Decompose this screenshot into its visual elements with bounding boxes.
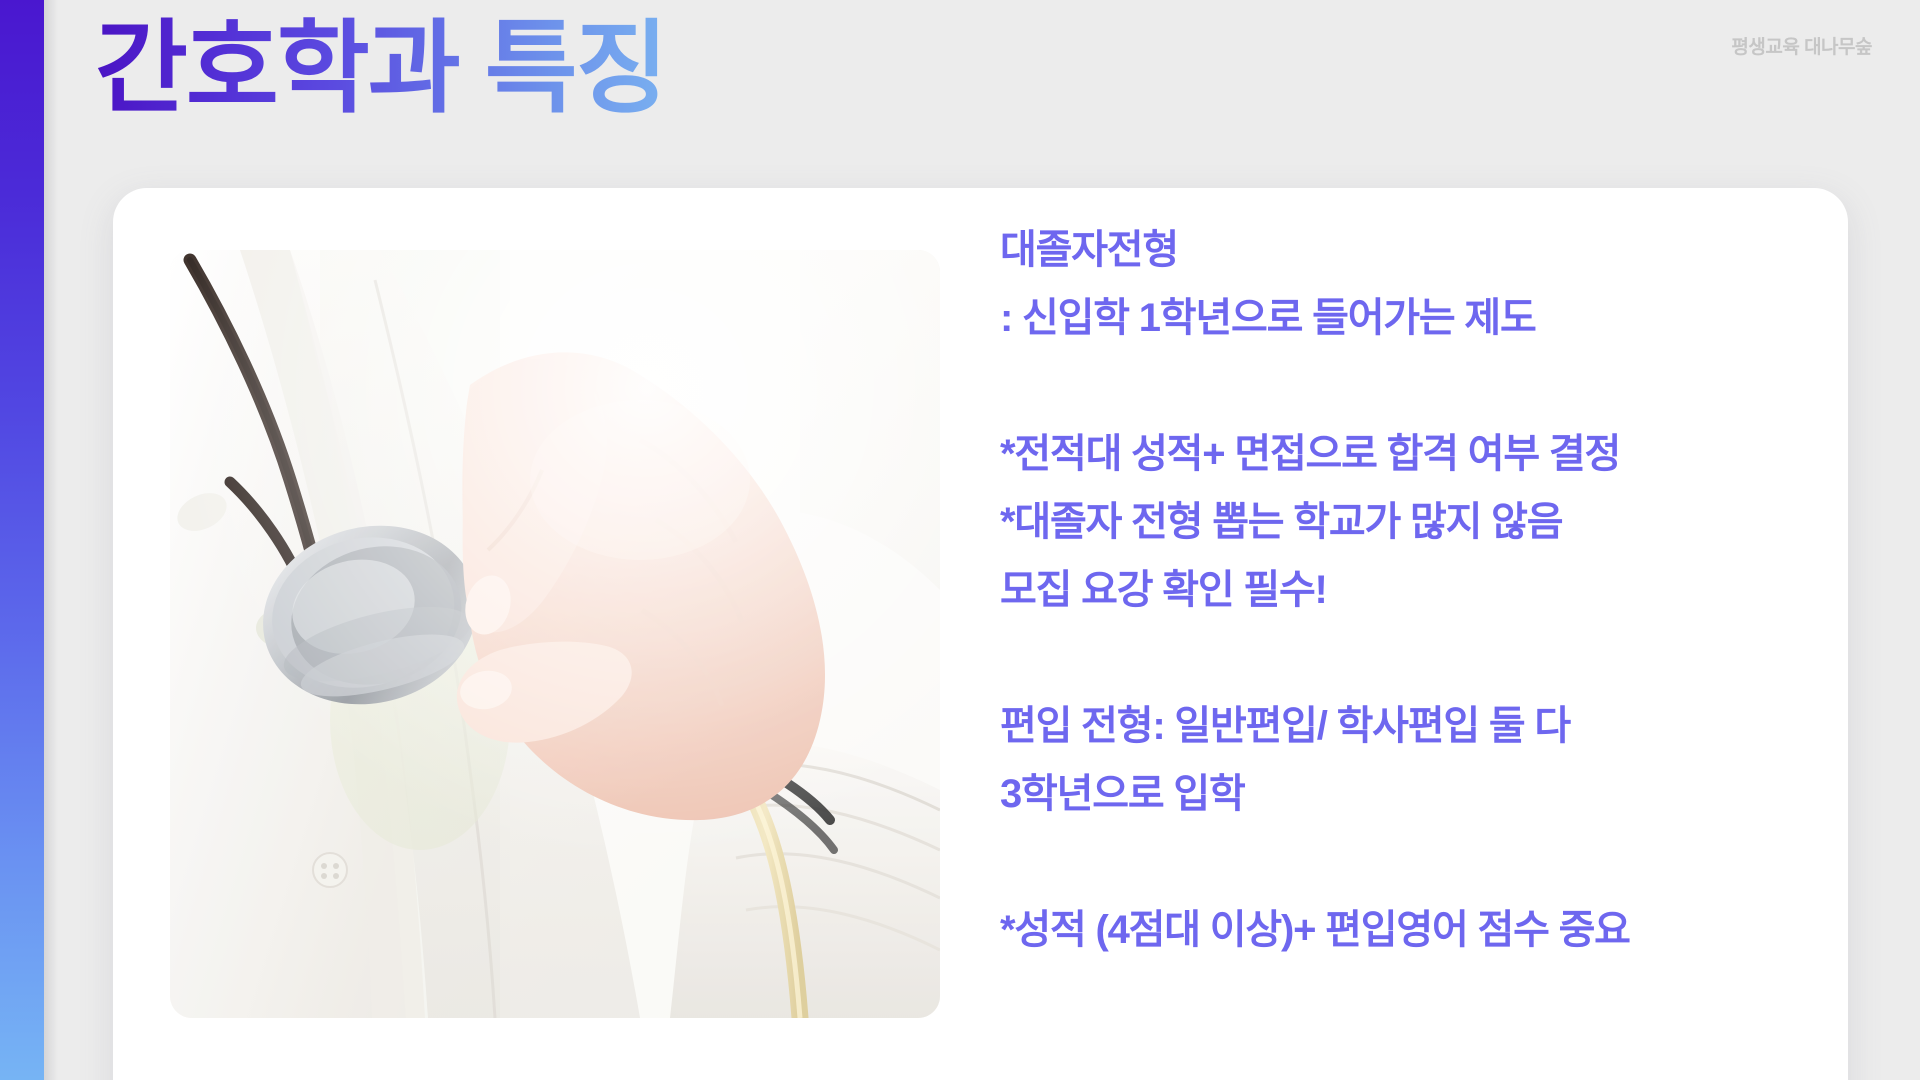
page-title: 간호학과 특징 bbox=[95, 8, 667, 131]
brand-logo: 평생교육 대나무숲 bbox=[1731, 32, 1872, 59]
body-copy: 대졸자전형 : 신입학 1학년으로 들어가는 제도 *전적대 성적+ 면접으로 … bbox=[1000, 216, 1800, 964]
body-line: *대졸자 전형 뽑는 학교가 많지 않음 bbox=[1000, 488, 1800, 556]
body-line: *전적대 성적+ 면접으로 합격 여부 결정 bbox=[1000, 420, 1800, 488]
body-line: 3학년으로 입학 bbox=[1000, 760, 1800, 828]
body-line: *성적 (4점대 이상)+ 편입영어 점수 중요 bbox=[1000, 896, 1800, 964]
body-line: 대졸자전형 bbox=[1000, 216, 1800, 284]
rail-shadow bbox=[44, 0, 58, 1080]
nursing-photo bbox=[170, 250, 940, 1018]
body-line-spacer bbox=[1000, 352, 1800, 420]
body-line-spacer bbox=[1000, 828, 1800, 896]
content-card: 대졸자전형 : 신입학 1학년으로 들어가는 제도 *전적대 성적+ 면접으로 … bbox=[113, 188, 1848, 1080]
body-line: : 신입학 1학년으로 들어가는 제도 bbox=[1000, 284, 1800, 352]
body-line: 모집 요강 확인 필수! bbox=[1000, 556, 1800, 624]
left-accent-rail bbox=[0, 0, 44, 1080]
slide-root: 간호학과 특징 평생교육 대나무숲 bbox=[0, 0, 1920, 1080]
body-line: 편입 전형: 일반편입/ 학사편입 둘 다 bbox=[1000, 692, 1800, 760]
body-line-spacer bbox=[1000, 624, 1800, 692]
